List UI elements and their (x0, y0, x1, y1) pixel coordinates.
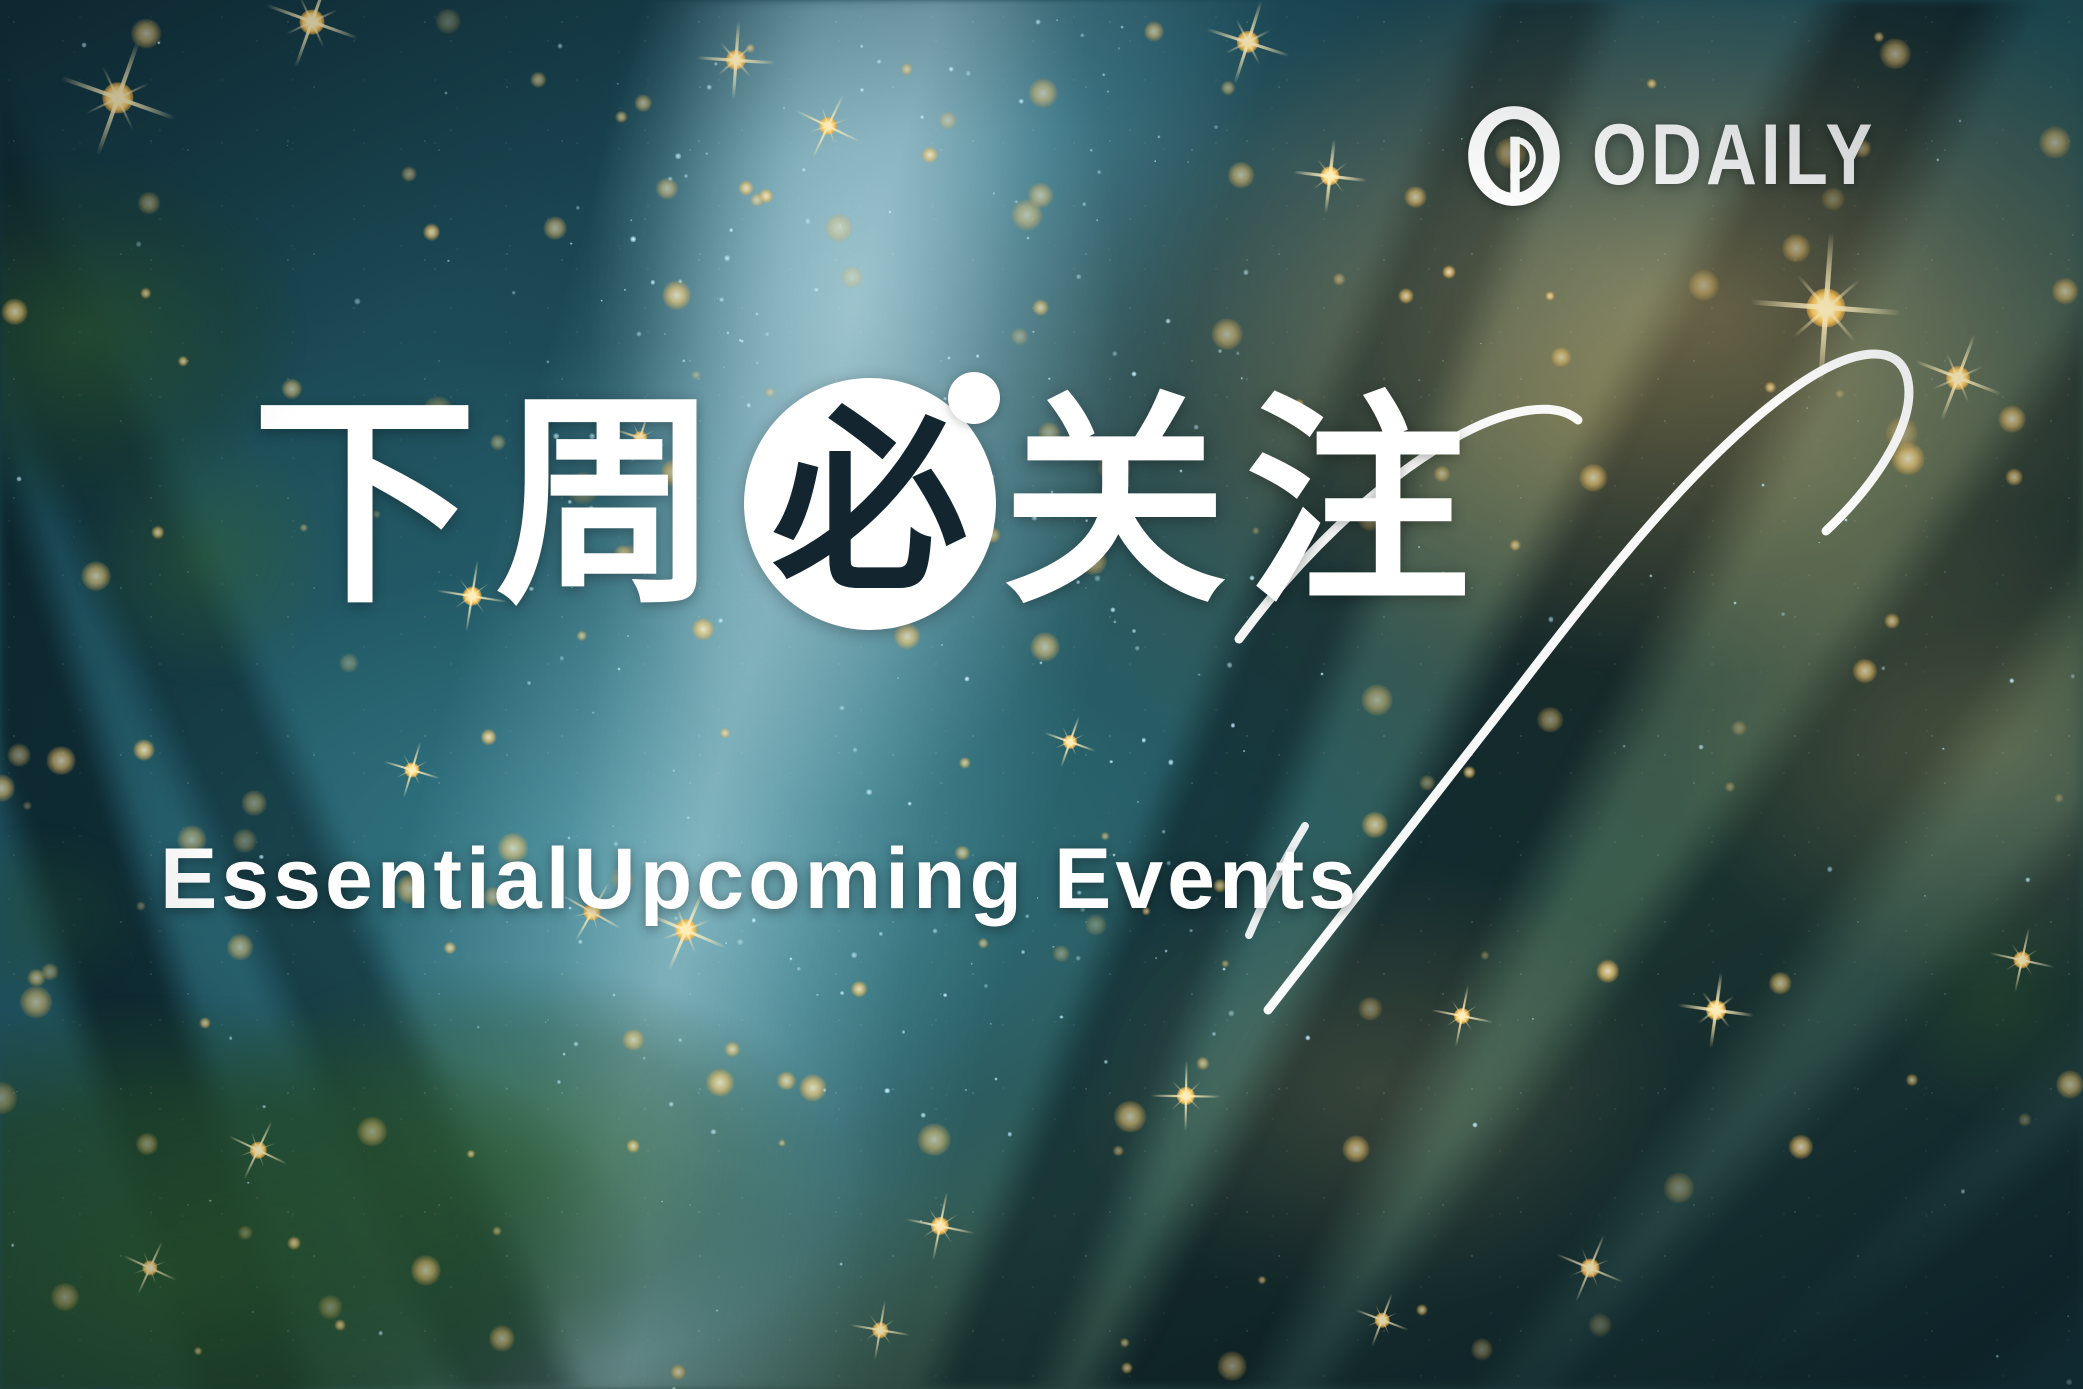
pin-star (569, 242, 572, 245)
starburst-sparkle (1751, 233, 1901, 383)
bokeh-light (1218, 1351, 1247, 1380)
pin-star (1214, 125, 1218, 129)
pin-star (1961, 1189, 1965, 1193)
pin-star (511, 291, 516, 296)
pin-star (1781, 612, 1785, 616)
bokeh-light (489, 1326, 514, 1351)
pin-star (545, 1021, 547, 1023)
pin-star (860, 44, 863, 47)
starburst-sparkle (1678, 972, 1754, 1048)
pin-star (136, 241, 142, 247)
bokeh-light (411, 1256, 440, 1285)
starburst-sparkle (226, 1118, 290, 1182)
pin-star (678, 1038, 682, 1042)
bokeh-light (1880, 38, 1910, 68)
starburst-sparkle (383, 741, 441, 799)
tree-foliage-canopy (0, 0, 2083, 1389)
pin-star (741, 340, 744, 343)
pin-star (613, 993, 616, 996)
pin-star (782, 106, 785, 109)
bokeh-light (1663, 1173, 1693, 1203)
pin-star (965, 1089, 967, 1091)
pin-star (661, 1201, 663, 1203)
bokeh-light (1362, 812, 1388, 838)
pin-star (1881, 666, 1885, 670)
bokeh-light (1011, 328, 1029, 346)
bokeh-light (1398, 288, 1413, 303)
bokeh-light (481, 729, 497, 745)
odaily-logo[interactable]: ODAILY (1462, 104, 1939, 208)
pin-star (1135, 646, 1140, 651)
pin-star (729, 228, 733, 232)
pin-star (1305, 1035, 1310, 1040)
pin-star (1165, 318, 1170, 323)
pin-star (705, 152, 709, 156)
pin-star (1532, 1018, 1534, 1020)
pin-star (1212, 1032, 1216, 1036)
pin-star (1109, 760, 1113, 764)
pin-star (1818, 542, 1820, 544)
pin-star (247, 1181, 250, 1184)
pin-star (711, 1129, 716, 1134)
bokeh-light (656, 178, 678, 200)
pin-star (1036, 20, 1041, 25)
bokeh-light (242, 790, 267, 815)
headline-char-bi: 必 (744, 406, 996, 602)
pin-star (1472, 1123, 1477, 1128)
pin-star (1021, 950, 1025, 954)
pin-star (852, 747, 857, 752)
pin-star (1197, 673, 1200, 676)
pin-star (866, 789, 872, 795)
headline-char-zhu: 注 (1245, 392, 1470, 617)
pin-star (840, 991, 844, 995)
bokeh-light (0, 775, 15, 802)
pin-star (1107, 90, 1110, 93)
bokeh-light (841, 266, 863, 288)
bokeh-light (133, 739, 154, 760)
bokeh-light (1510, 540, 1521, 551)
pin-star (1060, 1015, 1063, 1018)
pin-star (2070, 674, 2075, 679)
pin-star (612, 825, 614, 827)
bokeh-light (1144, 22, 1163, 41)
bokeh-light (1032, 299, 1049, 316)
headline-char-zhou: 周 (495, 392, 720, 617)
bokeh-light (423, 224, 440, 241)
bokeh-light (334, 1319, 345, 1330)
pin-star (355, 299, 360, 304)
bokeh-light (1885, 613, 1900, 628)
pin-star (724, 255, 730, 261)
pin-star (1118, 47, 1120, 49)
pin-star (1237, 352, 1240, 355)
pin-star (678, 279, 682, 283)
tree-trunk-silhouettes (0, 0, 2083, 1389)
pin-star (574, 1042, 579, 1047)
starburst-sparkle (1554, 1232, 1626, 1304)
pin-star (2025, 877, 2030, 882)
headline-chinese: 下 周 必 关 注 (252, 384, 1470, 624)
pin-star (1549, 617, 1554, 622)
bokeh-light (1545, 291, 1554, 300)
pin-star (965, 677, 970, 682)
pin-star (717, 298, 719, 300)
bokeh-light (1442, 266, 1455, 279)
pin-star (447, 260, 449, 262)
pin-star (756, 361, 759, 364)
pin-star (624, 289, 626, 291)
pin-star (949, 67, 954, 72)
pin-star (1649, 574, 1652, 577)
bokeh-light (1228, 163, 1254, 189)
pin-star (630, 236, 636, 242)
bokeh-light (1114, 1101, 1146, 1133)
pin-star (669, 1102, 674, 1107)
bokeh-light (2055, 794, 2064, 803)
pin-star (1699, 744, 1704, 749)
headline-char-bi-badge: 必 (744, 378, 996, 630)
pin-star (993, 192, 995, 194)
pin-star (897, 677, 899, 679)
pin-star (11, 1244, 15, 1248)
pin-star (941, 644, 943, 646)
bokeh-light (1874, 31, 1884, 41)
bokeh-light (1113, 1146, 1123, 1156)
pin-star (2066, 1379, 2072, 1385)
pin-star (948, 356, 951, 359)
pin-star (723, 366, 725, 368)
starburst-sparkle (1989, 927, 2055, 993)
pin-star (17, 477, 22, 482)
pin-star (907, 801, 912, 806)
pin-star (1157, 135, 1160, 138)
bokeh-light (23, 802, 31, 810)
starburst-sparkle (1354, 1292, 1410, 1348)
pin-star (725, 942, 727, 944)
pin-star (643, 1057, 646, 1060)
bokeh-light (141, 288, 151, 298)
pin-star (984, 984, 988, 988)
bokeh-light (1333, 274, 1345, 286)
bokeh-light (238, 1226, 252, 1240)
pin-star (1187, 161, 1189, 163)
bokeh-light (626, 1140, 639, 1153)
pin-star (1137, 801, 1139, 803)
bokeh-light (1011, 200, 1042, 231)
bokeh-light (1197, 1057, 1209, 1069)
pin-star (885, 1088, 891, 1094)
bokeh-light (978, 939, 988, 949)
pin-star (1026, 236, 1029, 239)
bokeh-light (82, 561, 111, 590)
bokeh-light (7, 743, 30, 766)
pin-star (1924, 894, 1926, 896)
pin-star (920, 115, 924, 119)
pin-star (560, 656, 564, 660)
bokeh-light (1464, 767, 1476, 779)
pin-star (994, 1077, 997, 1080)
pin-star (1142, 738, 1146, 742)
pin-star (921, 1113, 926, 1118)
pin-star (477, 1026, 480, 1029)
pin-star (627, 635, 629, 637)
pin-star (1942, 748, 1944, 750)
pin-star (1996, 1355, 1998, 1357)
pin-star (682, 359, 685, 362)
bokeh-light (227, 934, 253, 960)
pin-star (715, 1309, 718, 1312)
pin-star (932, 929, 937, 934)
pin-star (1623, 745, 1626, 748)
bokeh-light (41, 963, 58, 980)
bokeh-light (739, 181, 754, 196)
bokeh-light (1646, 78, 1657, 89)
headline-char-guan: 关 (1002, 392, 1227, 617)
bokeh-light (138, 192, 160, 214)
pin-star (1168, 760, 1173, 765)
bokeh-light (725, 1042, 739, 1056)
bokeh-light (1221, 81, 1235, 95)
background-sky-base (0, 0, 2083, 1389)
bokeh-light (918, 1123, 951, 1156)
pin-star (16, 1091, 18, 1093)
pin-star (1321, 673, 1324, 676)
pin-star (1080, 34, 1083, 37)
bokeh-light (720, 728, 730, 738)
bokeh-light (0, 1082, 17, 1114)
bokeh-light (1030, 632, 1059, 661)
pin-star (902, 1030, 906, 1034)
pin-star (684, 174, 688, 178)
pin-star (1155, 160, 1157, 162)
bokeh-light (543, 217, 566, 240)
star-field-fine (0, 0, 2083, 1389)
bokeh-light (635, 94, 652, 111)
pin-star (1008, 1132, 1012, 1136)
pin-star (1164, 950, 1167, 953)
pin-star (756, 313, 759, 316)
pin-star (1056, 19, 1058, 21)
pin-star (1480, 343, 1482, 345)
pin-star (1076, 956, 1081, 961)
pin-star (1096, 219, 1098, 221)
pin-star (719, 297, 725, 303)
odaily-circle-p-mark (1462, 104, 1566, 208)
bokeh-light (825, 213, 853, 241)
starburst-sparkle (1151, 1061, 1221, 1131)
bokeh-light (1732, 720, 1747, 735)
pin-star (823, 1089, 827, 1093)
bokeh-light (1120, 1338, 1130, 1348)
bokeh-light (623, 1029, 644, 1050)
bokeh-light (28, 969, 45, 986)
pin-star (920, 1221, 922, 1223)
pin-star (1229, 1011, 1234, 1016)
bokeh-light (1769, 973, 1791, 995)
pin-star (2072, 234, 2074, 236)
pin-star (600, 299, 603, 302)
bokeh-light (131, 19, 161, 49)
pin-star (814, 288, 818, 292)
pin-star (1733, 601, 1736, 604)
bokeh-light (444, 942, 456, 954)
pin-star (686, 816, 690, 820)
pin-star (1761, 484, 1764, 487)
pin-star (557, 1080, 561, 1084)
pin-star (877, 59, 882, 64)
bokeh-light (136, 1133, 158, 1155)
pin-star (739, 339, 741, 341)
bokeh-light (1892, 442, 1925, 475)
pin-star (801, 167, 805, 171)
odaily-wordmark: ODAILY (1592, 117, 1877, 194)
bokeh-light (1538, 707, 1564, 733)
pin-star (1097, 170, 1101, 174)
bokeh-light (959, 757, 970, 768)
pin-star (1227, 662, 1233, 668)
bokeh-light (136, 902, 145, 911)
starburst-sparkle (1293, 139, 1367, 213)
bokeh-light (1597, 960, 1619, 982)
pin-star (1104, 1060, 1108, 1064)
bokeh-light (1580, 464, 1607, 491)
bokeh-light (706, 1069, 734, 1097)
starburst-sparkle (121, 1239, 179, 1297)
pin-star (1806, 408, 1808, 410)
starburst-sparkle (58, 38, 178, 158)
pin-star (888, 210, 891, 213)
bokeh-light (1689, 270, 1719, 300)
pin-star (976, 355, 980, 359)
bokeh-light (1906, 1074, 1918, 1086)
milky-way-band (0, 0, 2083, 1389)
bokeh-light (288, 1236, 301, 1249)
bokeh-light (1419, 775, 1434, 790)
bokeh-light (1783, 234, 1811, 262)
orbit-ellipse-swoosh (0, 0, 2083, 1389)
bokeh-light (799, 1075, 826, 1102)
pin-star (707, 85, 712, 90)
bokeh-light (1998, 405, 2025, 432)
pin-star (816, 993, 818, 995)
bokeh-light (1362, 684, 1393, 715)
bokeh-light (2018, 1113, 2031, 1126)
pin-star (1222, 968, 1225, 971)
bokeh-light (1028, 183, 1052, 207)
pin-star (840, 1263, 843, 1266)
pin-star (546, 360, 549, 363)
bokeh-light (492, 1226, 501, 1235)
pin-star (558, 44, 563, 49)
bokeh-light (358, 1117, 388, 1147)
bokeh-light (2005, 469, 2022, 486)
bokeh-light (2039, 127, 2070, 158)
bokeh-light (1836, 389, 1845, 398)
bokeh-light (1481, 951, 1489, 959)
pin-star (839, 224, 841, 226)
golden-sparkle-layer (0, 0, 2083, 1389)
pin-star (1827, 866, 1832, 871)
pin-star (527, 681, 531, 685)
pin-star (562, 1052, 565, 1055)
pin-star (157, 41, 160, 44)
bokeh-light (194, 1348, 202, 1356)
pin-star (1112, 351, 1118, 357)
starburst-sparkle (1043, 715, 1097, 769)
bokeh-light (1725, 781, 1735, 791)
pin-star (2009, 678, 2014, 683)
pin-star (1102, 73, 1105, 76)
pin-star (1958, 120, 1961, 123)
bokeh-light (340, 654, 359, 673)
bokeh-light (1405, 186, 1426, 207)
bokeh-light (901, 64, 913, 76)
pin-star (1156, 957, 1158, 959)
bokeh-light (616, 112, 627, 123)
bokeh-light (1358, 997, 1382, 1021)
pin-star (209, 1199, 212, 1202)
pin-star (445, 91, 448, 94)
pin-star (672, 769, 676, 773)
pin-star (1243, 750, 1245, 752)
pin-star (1844, 518, 1847, 521)
bokeh-light (746, 44, 754, 52)
pin-star (860, 88, 864, 92)
subheadline-english: EssentialUpcoming Events (160, 836, 1360, 922)
pin-star (576, 206, 580, 210)
pin-star (378, 1331, 383, 1336)
bokeh-light (47, 746, 76, 775)
bokeh-light (1765, 382, 1775, 392)
pin-star (592, 711, 595, 714)
bokeh-light (922, 146, 938, 162)
headline-char-xia: 下 (252, 392, 477, 617)
pin-star (1082, 202, 1086, 206)
pin-star (839, 705, 844, 710)
pin-star (578, 940, 582, 944)
pin-star (1040, 661, 1043, 664)
pin-star (879, 931, 883, 935)
pin-star (262, 1105, 266, 1109)
pin-star (1244, 270, 1249, 275)
warm-bokeh-haze (0, 0, 2083, 1389)
bokeh-light (1212, 319, 1243, 350)
pin-star (765, 332, 769, 336)
starburst-sparkle (793, 91, 863, 161)
bokeh-light (1416, 1304, 1427, 1315)
milky-way-glow (0, 0, 2083, 1389)
bokeh-light (151, 526, 163, 538)
starburst-sparkle (850, 1300, 910, 1360)
pin-star (650, 280, 654, 284)
pin-star (1231, 723, 1235, 727)
bokeh-light (1, 298, 28, 325)
pin-star (636, 331, 641, 336)
pin-star (81, 42, 86, 47)
bokeh-light (467, 1150, 475, 1158)
bokeh-light (662, 281, 691, 310)
pin-star (1218, 349, 1222, 353)
pin-star (1014, 200, 1017, 203)
bokeh-light (671, 1364, 686, 1379)
bokeh-light (759, 189, 773, 203)
bokeh-light (2056, 1071, 2083, 1098)
bokeh-light (318, 1295, 342, 1319)
pin-star (1076, 274, 1082, 280)
bokeh-light (777, 1072, 795, 1090)
bokeh-light (178, 357, 188, 367)
